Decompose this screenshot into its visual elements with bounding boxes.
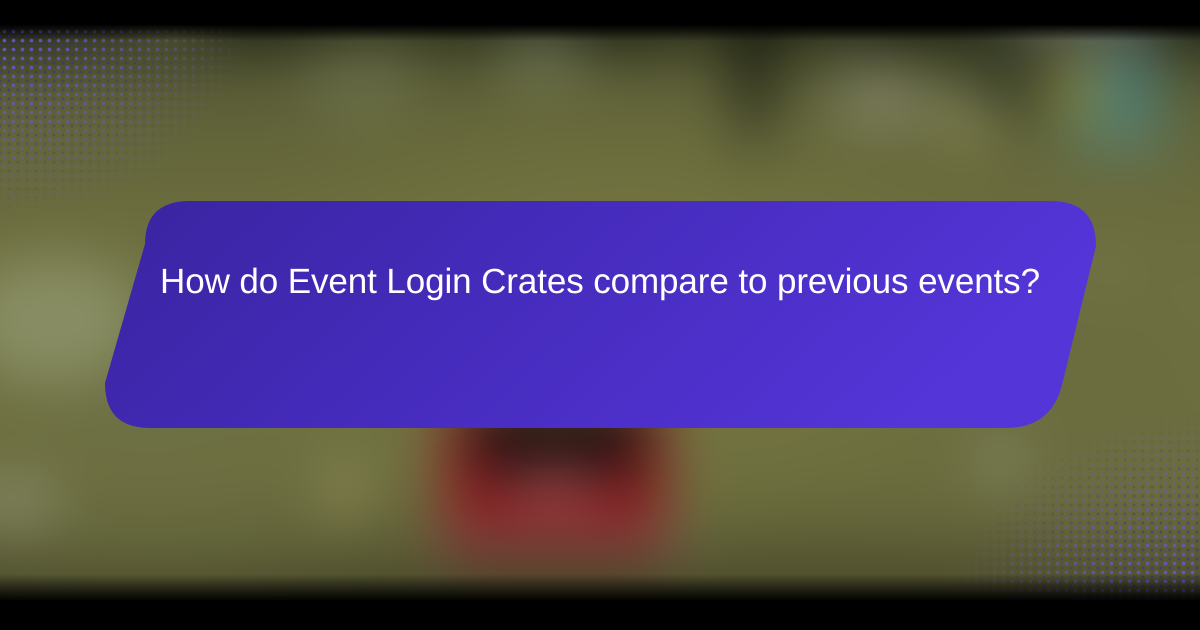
question-card-shape [0,0,1200,630]
question-text: How do Event Login Crates compare to pre… [150,255,1050,308]
question-card: How do Event Login Crates compare to pre… [0,0,1200,630]
social-card-canvas: How do Event Login Crates compare to pre… [0,0,1200,630]
